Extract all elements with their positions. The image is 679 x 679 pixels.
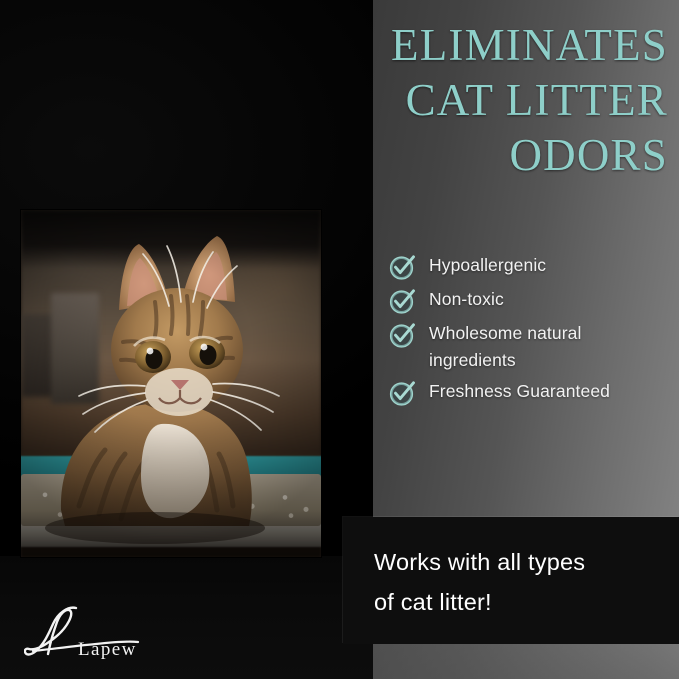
feature-item-non-toxic: Non-toxic bbox=[388, 286, 676, 316]
check-circle-icon bbox=[388, 320, 418, 350]
feature-item-wholesome-natural-ingredients: Wholesome natural ingredients bbox=[388, 320, 676, 374]
feature-label: Hypoallergenic bbox=[429, 252, 546, 279]
banner-line-2: of cat litter! bbox=[374, 582, 664, 622]
product-poster: ELIMINATES CAT LITTER ODORS Hypoallergen… bbox=[0, 0, 679, 679]
feature-label: Non-toxic bbox=[429, 286, 504, 313]
kitten-litterbox-photo bbox=[21, 210, 321, 557]
feature-label: Wholesome natural ingredients bbox=[429, 320, 669, 374]
check-circle-icon bbox=[388, 378, 418, 408]
headline-line-1: ELIMINATES bbox=[300, 18, 668, 73]
banner-text: Works with all types of cat litter! bbox=[374, 542, 664, 622]
headline-line-2: CAT LITTER bbox=[300, 73, 668, 128]
headline-line-3: ODORS bbox=[300, 128, 668, 183]
brand-logo: Lapew bbox=[24, 602, 154, 664]
bottom-banner: Works with all types of cat litter! bbox=[343, 517, 679, 644]
feature-item-freshness-guaranteed: Freshness Guaranteed bbox=[388, 378, 676, 408]
feature-list: Hypoallergenic Non-toxic Wholesome n bbox=[388, 252, 676, 412]
photo-vignette bbox=[21, 210, 321, 557]
check-circle-icon bbox=[388, 286, 418, 316]
check-circle-icon bbox=[388, 252, 418, 282]
logo-wordmark: Lapew bbox=[78, 639, 137, 661]
banner-line-1: Works with all types bbox=[374, 542, 664, 582]
feature-item-hypoallergenic: Hypoallergenic bbox=[388, 252, 676, 282]
headline: ELIMINATES CAT LITTER ODORS bbox=[300, 18, 668, 183]
feature-label: Freshness Guaranteed bbox=[429, 378, 610, 405]
